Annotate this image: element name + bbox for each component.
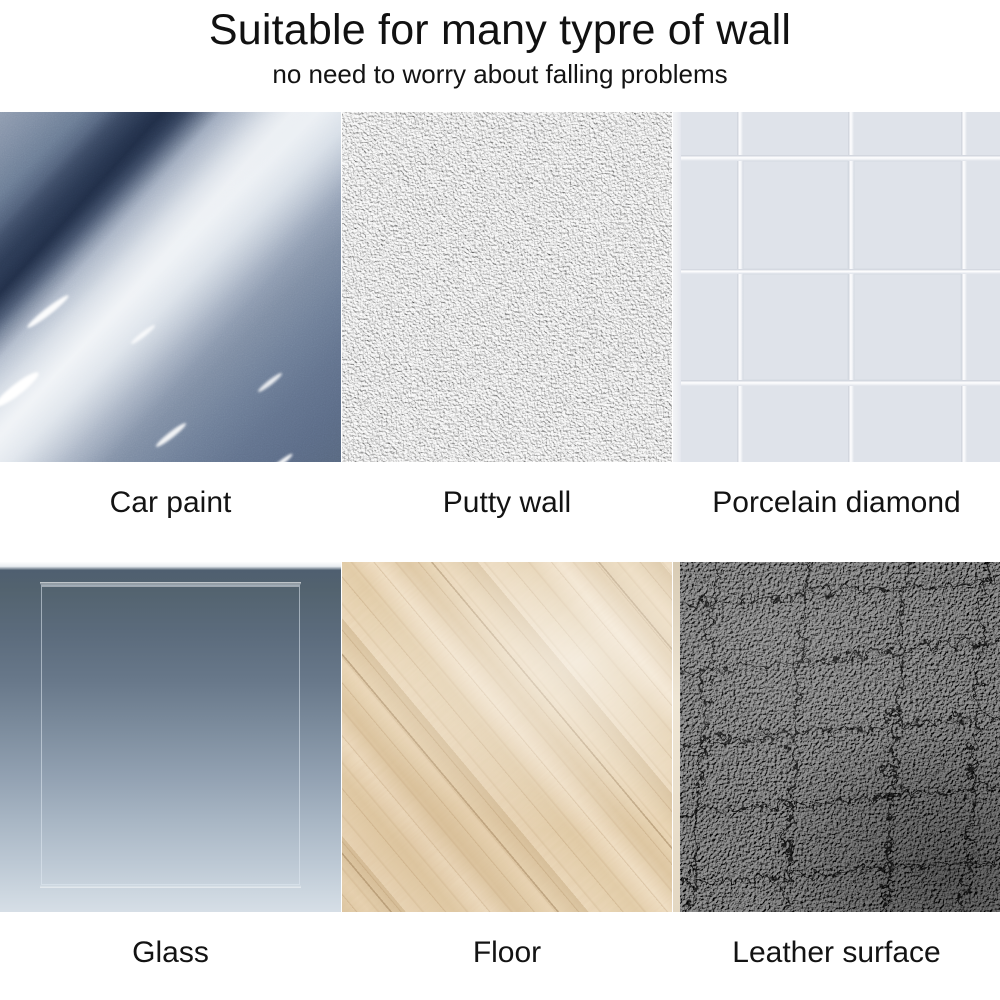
- surface-image-putty-wall: [342, 112, 672, 462]
- black-pebbled-leather-texture: [673, 562, 1000, 912]
- surface-label-floor: Floor: [342, 922, 672, 984]
- blue-gradient-glass-pane-texture: [0, 562, 341, 912]
- paint-specular-highlight: [264, 452, 294, 462]
- paint-grain-overlay: [0, 112, 341, 462]
- surface-label-glass: Glass: [0, 922, 341, 984]
- surface-image-glass: [0, 562, 341, 912]
- paint-specular-highlight: [257, 371, 284, 393]
- paint-specular-highlight: [154, 421, 188, 449]
- paint-specular-highlight: [0, 369, 42, 411]
- surface-image-floor: [342, 562, 672, 912]
- surface-label-putty-wall: Putty wall: [342, 472, 672, 534]
- page-subtitle: no need to worry about falling problems: [272, 58, 727, 90]
- surface-image-car-paint: [0, 112, 341, 462]
- tile-left-edge: [673, 112, 681, 462]
- white-textured-putty-wall-texture: [342, 112, 672, 462]
- light-grey-porcelain-tile-texture: [673, 112, 1000, 462]
- header: Suitable for many typre of wall no need …: [0, 0, 1000, 112]
- glossy-blue-car-paint-texture: [0, 112, 341, 462]
- surface-image-leather-surface: [673, 562, 1000, 912]
- surface-image-porcelain-diamond: [673, 112, 1000, 462]
- leather-shading: [673, 562, 1000, 912]
- surface-label-row-1: Car paint Putty wall Porcelain diamond: [0, 472, 1000, 534]
- putty-grain-overlay: [342, 112, 672, 462]
- product-feature-panel: Suitable for many typre of wall no need …: [0, 0, 1000, 1000]
- surface-label-row-2: Glass Floor Leather surface: [0, 922, 1000, 984]
- page-title: Suitable for many typre of wall: [209, 4, 791, 56]
- light-wood-plank-floor-texture: [342, 562, 672, 912]
- glass-pane-outline: [41, 585, 300, 885]
- paint-specular-highlight: [130, 323, 157, 345]
- floor-sheen: [342, 562, 672, 912]
- tile-grout-lines: [673, 112, 1000, 462]
- leather-left-edge: [673, 562, 680, 912]
- paint-specular-highlight: [25, 293, 70, 331]
- surface-label-porcelain-diamond: Porcelain diamond: [673, 472, 1000, 534]
- surface-image-row-2: [0, 562, 1000, 912]
- surface-image-row-1: [0, 112, 1000, 462]
- glass-top-edge: [0, 562, 341, 570]
- surface-label-leather-surface: Leather surface: [673, 922, 1000, 984]
- surface-label-car-paint: Car paint: [0, 472, 341, 534]
